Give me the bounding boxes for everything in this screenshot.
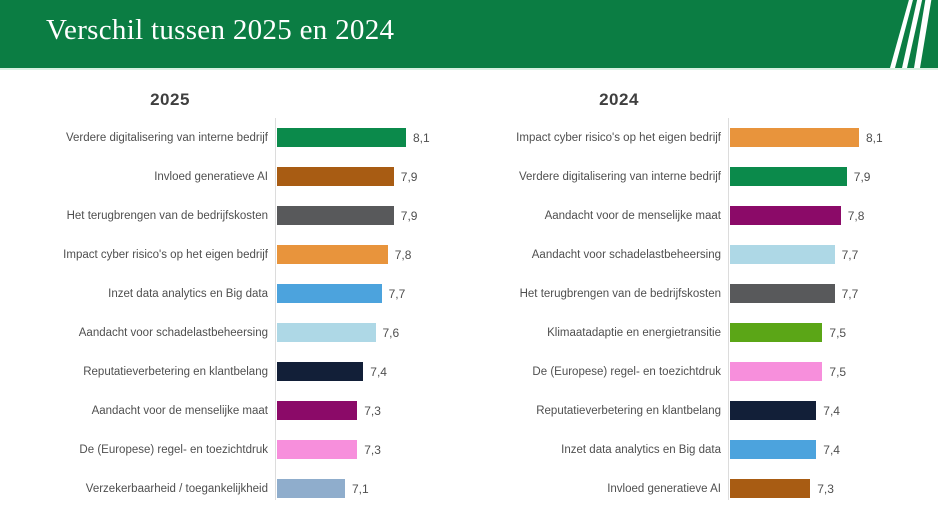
- three-slash-logo: [862, 0, 932, 68]
- bar-value-label: 7,1: [352, 469, 369, 508]
- bar: [730, 245, 835, 264]
- bar-row: Inzet data analytics en Big data7,4: [469, 430, 938, 469]
- bar-row: De (Europese) regel- en toezichtdruk7,5: [469, 352, 938, 391]
- bar: [277, 167, 394, 186]
- bar-category-label: Klimaatadaptie en energietransitie: [469, 313, 721, 352]
- bar: [730, 401, 816, 420]
- bar-category-label: Inzet data analytics en Big data: [0, 274, 268, 313]
- bar-category-label: Het terugbrengen van de bedrijfskosten: [0, 196, 268, 235]
- bar-value-label: 7,6: [383, 313, 400, 352]
- bar-value-label: 7,3: [817, 469, 834, 508]
- bar-value-label: 7,7: [389, 274, 406, 313]
- chart-panel-2024: 2024 Impact cyber risico's op het eigen …: [469, 70, 938, 512]
- chart-title-2024: 2024: [469, 90, 769, 110]
- bar: [277, 206, 394, 225]
- bar: [277, 362, 363, 381]
- bar: [730, 284, 835, 303]
- bar-row: Aandacht voor schadelastbeheersing7,6: [0, 313, 469, 352]
- bar-row: Aandacht voor schadelastbeheersing7,7: [469, 235, 938, 274]
- bar: [277, 128, 406, 147]
- bar-row: Reputatieverbetering en klantbelang7,4: [469, 391, 938, 430]
- bar-row: Impact cyber risico's op het eigen bedri…: [469, 118, 938, 157]
- bar-category-label: Verzekerbaarheid / toegankelijkheid: [0, 469, 268, 508]
- bar: [730, 479, 810, 498]
- bar-row: Impact cyber risico's op het eigen bedri…: [0, 235, 469, 274]
- bar: [277, 245, 388, 264]
- bar-row: Reputatieverbetering en klantbelang7,4: [0, 352, 469, 391]
- bar-value-label: 7,5: [829, 352, 846, 391]
- bar-row: De (Europese) regel- en toezichtdruk7,3: [0, 430, 469, 469]
- bar-value-label: 7,9: [854, 157, 871, 196]
- bar: [730, 323, 822, 342]
- bar-category-label: De (Europese) regel- en toezichtdruk: [0, 430, 268, 469]
- bar-row: Aandacht voor de menselijke maat7,8: [469, 196, 938, 235]
- bar-row: Inzet data analytics en Big data7,7: [0, 274, 469, 313]
- bar-category-label: Aandacht voor schadelastbeheersing: [0, 313, 268, 352]
- bar-value-label: 7,4: [370, 352, 387, 391]
- bar-value-label: 7,4: [823, 430, 840, 469]
- bar: [730, 206, 841, 225]
- bar: [277, 284, 382, 303]
- bar-category-label: Reputatieverbetering en klantbelang: [469, 391, 721, 430]
- chart-panel-2025: 2025 Verdere digitalisering van interne …: [0, 70, 469, 512]
- bar-category-label: Impact cyber risico's op het eigen bedri…: [469, 118, 721, 157]
- bar-value-label: 7,8: [848, 196, 865, 235]
- bar-value-label: 7,9: [401, 196, 418, 235]
- bar-category-label: Verdere digitalisering van interne bedri…: [469, 157, 721, 196]
- bar-value-label: 7,9: [401, 157, 418, 196]
- bar-category-label: Aandacht voor de menselijke maat: [469, 196, 721, 235]
- bar-row: Het terugbrengen van de bedrijfskosten7,…: [0, 196, 469, 235]
- bar-category-label: Aandacht voor schadelastbeheersing: [469, 235, 721, 274]
- bar-category-label: Aandacht voor de menselijke maat: [0, 391, 268, 430]
- page-title: Verschil tussen 2025 en 2024: [46, 14, 394, 47]
- bar-value-label: 7,5: [829, 313, 846, 352]
- bar-category-label: Invloed generatieve AI: [0, 157, 268, 196]
- bar: [730, 362, 822, 381]
- bar-rows-2024: Impact cyber risico's op het eigen bedri…: [469, 118, 938, 508]
- bar-value-label: 7,3: [364, 430, 381, 469]
- bar-value-label: 7,4: [823, 391, 840, 430]
- charts-container: 2025 Verdere digitalisering van interne …: [0, 70, 938, 512]
- bar-value-label: 7,3: [364, 391, 381, 430]
- bar-row: Verdere digitalisering van interne bedri…: [469, 157, 938, 196]
- bar: [277, 479, 345, 498]
- bar-category-label: Verdere digitalisering van interne bedri…: [0, 118, 268, 157]
- bar-value-label: 7,7: [842, 274, 859, 313]
- bar-category-label: Invloed generatieve AI: [469, 469, 721, 508]
- page-header: Verschil tussen 2025 en 2024: [0, 0, 938, 68]
- bar-row: Het terugbrengen van de bedrijfskosten7,…: [469, 274, 938, 313]
- chart-title-2025: 2025: [0, 90, 340, 110]
- bar-category-label: Impact cyber risico's op het eigen bedri…: [0, 235, 268, 274]
- bar-value-label: 8,1: [866, 118, 883, 157]
- bar-row: Aandacht voor de menselijke maat7,3: [0, 391, 469, 430]
- bar-rows-2025: Verdere digitalisering van interne bedri…: [0, 118, 469, 508]
- bar-value-label: 7,8: [395, 235, 412, 274]
- bar: [730, 128, 859, 147]
- bar: [730, 167, 847, 186]
- bar: [277, 401, 357, 420]
- bar-value-label: 8,1: [413, 118, 430, 157]
- bar-category-label: Het terugbrengen van de bedrijfskosten: [469, 274, 721, 313]
- bar-row: Verzekerbaarheid / toegankelijkheid7,1: [0, 469, 469, 508]
- bar-category-label: Inzet data analytics en Big data: [469, 430, 721, 469]
- bar-row: Invloed generatieve AI7,3: [469, 469, 938, 508]
- bar: [277, 323, 376, 342]
- bar-category-label: Reputatieverbetering en klantbelang: [0, 352, 268, 391]
- bar-value-label: 7,7: [842, 235, 859, 274]
- bar-category-label: De (Europese) regel- en toezichtdruk: [469, 352, 721, 391]
- bar-row: Invloed generatieve AI7,9: [0, 157, 469, 196]
- bar-row: Klimaatadaptie en energietransitie7,5: [469, 313, 938, 352]
- bar: [277, 440, 357, 459]
- bar: [730, 440, 816, 459]
- bar-row: Verdere digitalisering van interne bedri…: [0, 118, 469, 157]
